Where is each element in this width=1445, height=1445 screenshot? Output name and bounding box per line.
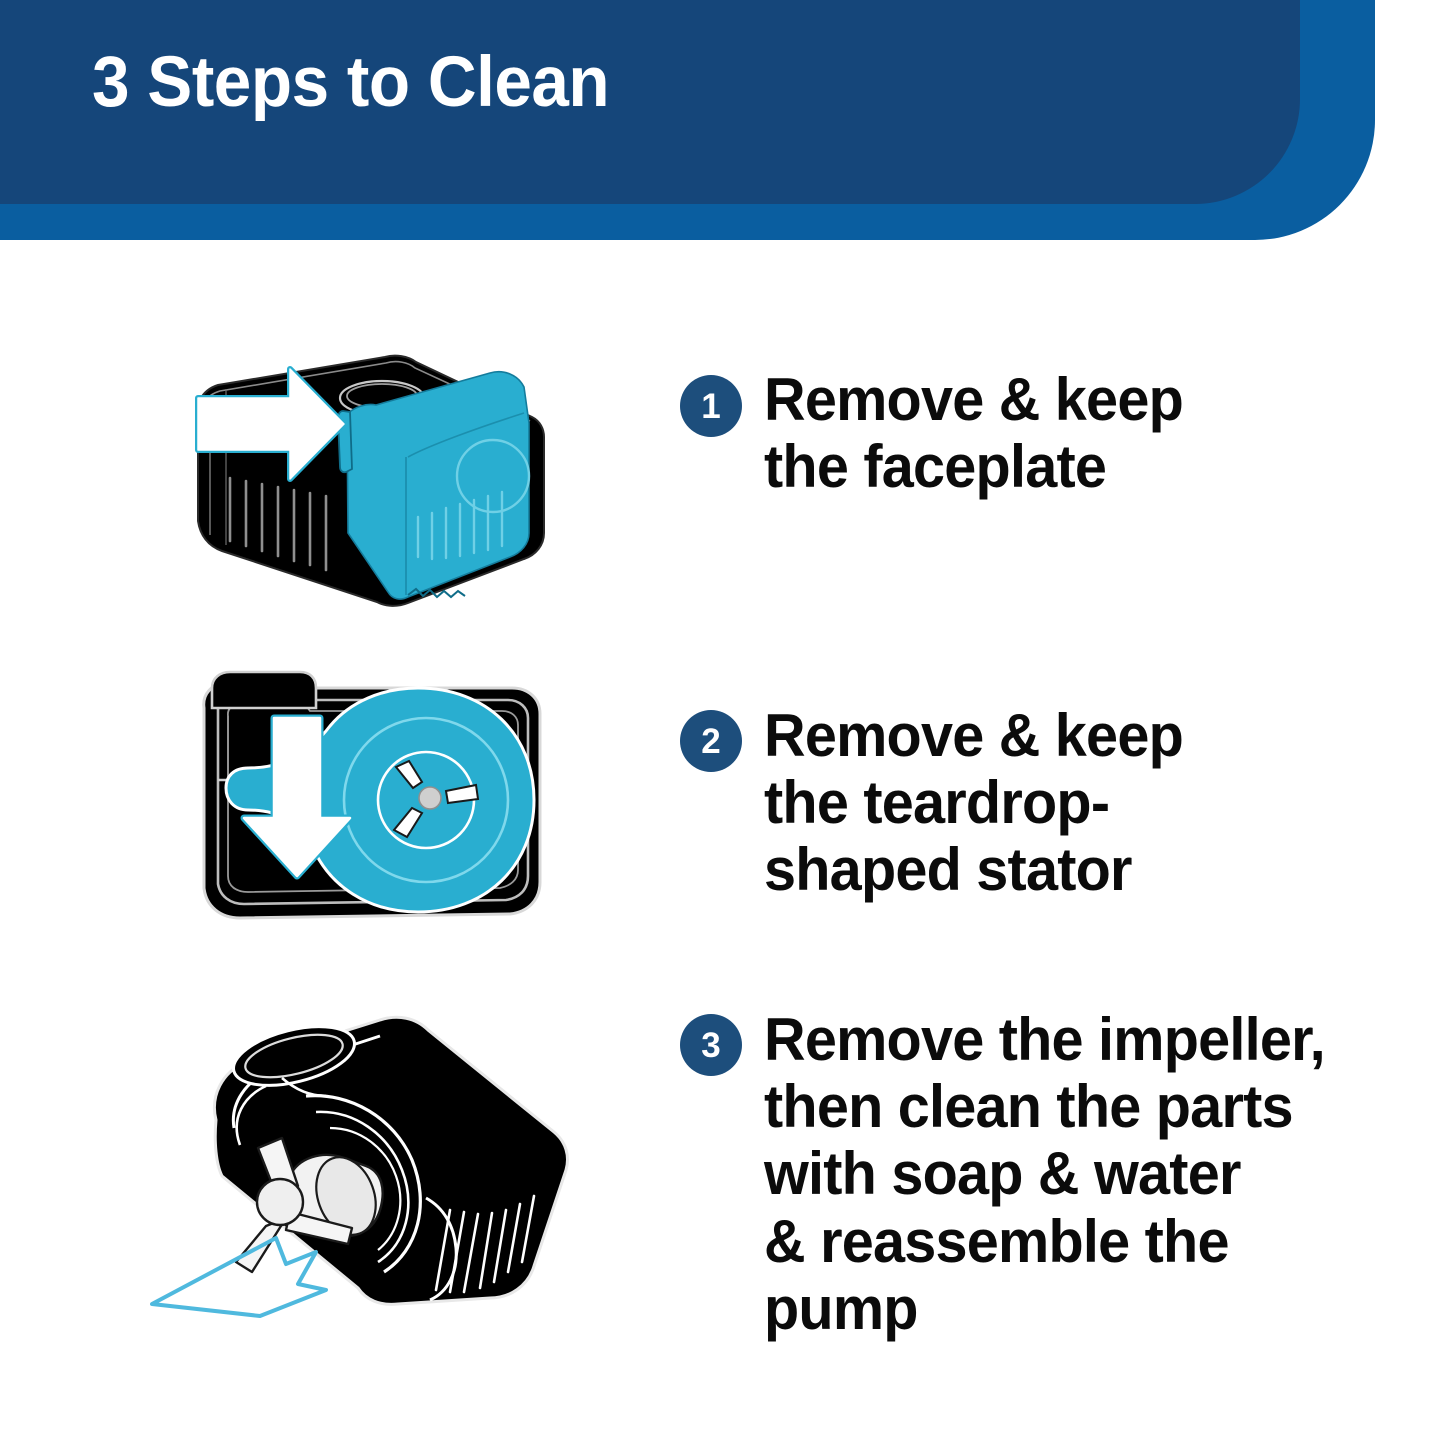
step-2-instruction: Remove & keep the teardrop- shaped stato… [764, 702, 1183, 904]
impeller-hub [257, 1179, 303, 1225]
pump-with-faceplate-illustration [180, 345, 580, 635]
step-row: 2 Remove & keep the teardrop- shaped sta… [0, 640, 1445, 985]
impeller-hub [419, 787, 441, 809]
cyan-outline-down-left-arrow [148, 1234, 326, 1316]
pump-with-teardrop-stator-illustration [182, 660, 562, 930]
step-row: 1 Remove & keep the faceplate [0, 290, 1445, 640]
header: 3 Steps to Clean [0, 0, 1445, 245]
poster-root: 3 Steps to Clean [0, 0, 1445, 1445]
step-3-instruction: Remove the impeller, then clean the part… [764, 1006, 1325, 1342]
steps-list: 1 Remove & keep the faceplate [0, 245, 1445, 1445]
page-title: 3 Steps to Clean [92, 47, 609, 118]
step-1-illustration-cell [0, 290, 660, 640]
step-badge-3: 3 [680, 1014, 742, 1076]
step-badge-1: 1 [680, 375, 742, 437]
step-2-illustration-cell [0, 640, 660, 985]
step-1-instruction: Remove & keep the faceplate [764, 366, 1183, 500]
step-badge-2: 2 [680, 710, 742, 772]
pump-with-impeller-removal-illustration [130, 1000, 580, 1330]
step-row: 3 Remove the impeller, then clean the pa… [0, 990, 1445, 1410]
step-3-illustration-cell [0, 990, 660, 1410]
